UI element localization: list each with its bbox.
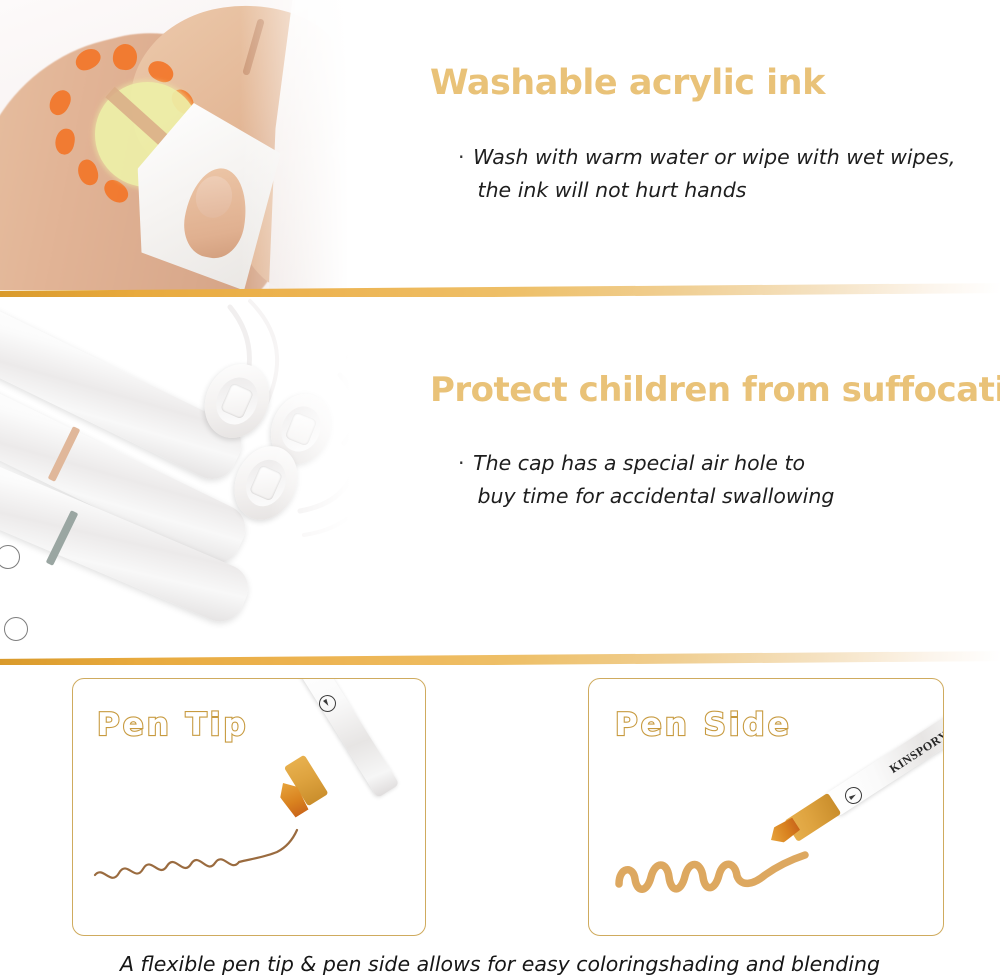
bullet-text: The cap has a special air hole to: [473, 451, 805, 475]
bullet-line: · The cap has a special air hole to: [458, 447, 1000, 480]
panel-pen-side-clip: Pen Side KINSPORY: [589, 679, 943, 935]
section-heading: Washable acrylic ink: [430, 66, 955, 101]
photo-fade-edge: [270, 297, 400, 658]
bullet-text: buy time for accidental swallowing: [478, 484, 835, 508]
bullet-marker: ·: [458, 451, 465, 475]
washable-ink-text-block: Washable acrylic ink · Wash with warm wa…: [430, 66, 955, 207]
marker-pen-tip: KINSPORY: [261, 679, 421, 855]
air-hole: [219, 382, 254, 420]
section-anti-suffocation: Protect children from suffocation · The …: [0, 297, 1000, 658]
pen-logo-icon: [4, 617, 28, 641]
section-heading: Protect children from suffocation: [430, 373, 1000, 407]
bullet-line: the ink will not hurt hands: [458, 174, 955, 207]
pen-caps-photo: [0, 297, 400, 658]
bullet-text: the ink will not hurt hands: [478, 178, 747, 202]
bullet-line: buy time for accidental swallowing: [458, 480, 1000, 513]
bullet-line: · Wash with warm water or wipe with wet …: [458, 141, 955, 174]
panel-pen-tip-clip: Pen Tip KINSPORY: [73, 679, 425, 935]
photo-fade-edge: [240, 0, 400, 290]
hand-wipe-photo: [0, 0, 400, 290]
section-pen-demo: Pen Tip KINSPORY Pen Side: [0, 665, 1000, 980]
bullet-marker: ·: [458, 145, 465, 169]
bottom-caption: A flexible pen tip & pen side allows for…: [0, 952, 1000, 976]
marker-pen-side: KINSPORY: [785, 739, 943, 879]
section-washable-ink: Washable acrylic ink · Wash with warm wa…: [0, 0, 1000, 290]
panel-pen-side: Pen Side KINSPORY: [588, 678, 944, 936]
infographic-page: Washable acrylic ink · Wash with warm wa…: [0, 0, 1000, 980]
bullet-text: Wash with warm water or wipe with wet wi…: [473, 145, 955, 169]
anti-suffocation-text-block: Protect children from suffocation · The …: [430, 373, 1000, 513]
panel-pen-tip: Pen Tip KINSPORY: [72, 678, 426, 936]
